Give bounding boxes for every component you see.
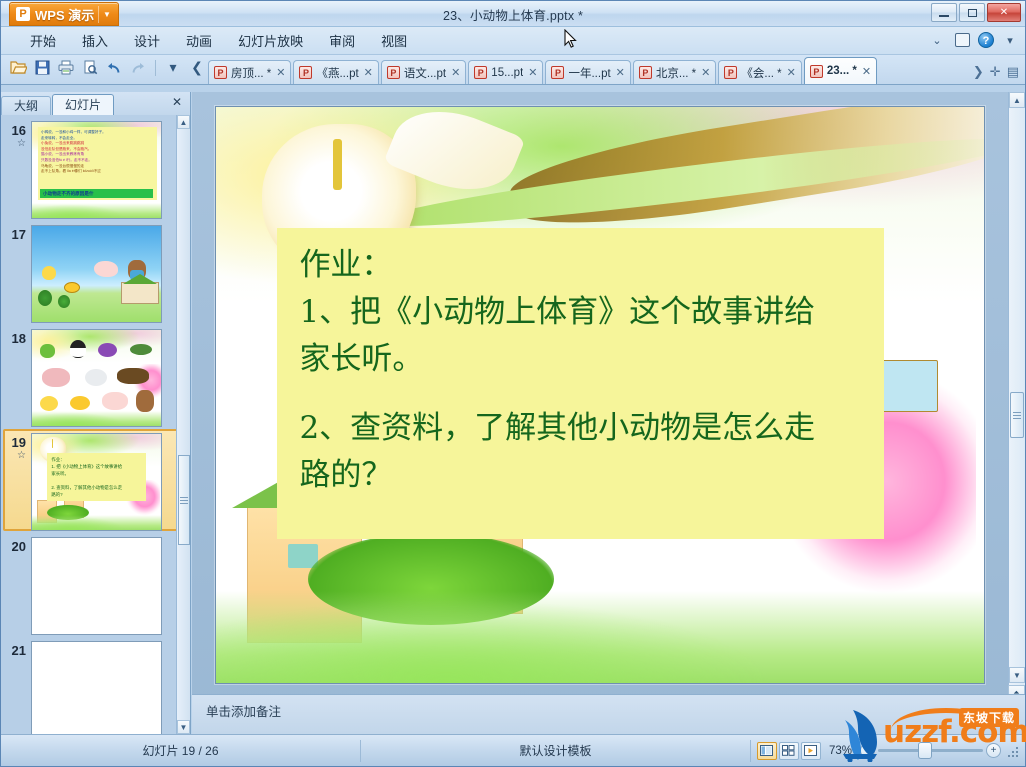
doc-tab-4[interactable]: P 15...pt ✕: [468, 60, 543, 84]
zoom-slider[interactable]: − +: [860, 743, 1001, 758]
thumbnail-number-group: 18: [7, 329, 31, 427]
dropdown-caret-icon[interactable]: ▾: [1001, 31, 1019, 49]
menu-item-start[interactable]: 开始: [17, 28, 69, 53]
menu-item-view[interactable]: 视图: [368, 28, 420, 53]
notes-pane[interactable]: 单击添加备注: [192, 694, 1025, 734]
close-icon: ✕: [1000, 7, 1008, 18]
thumbnail-number: 16: [12, 123, 26, 138]
panel-tabs: 大纲 幻灯片 ✕: [1, 92, 190, 115]
design-template-name: 默认设计模板: [361, 740, 751, 762]
document-tab-strip: ▾ ❮ P 房顶... * ✕ P 《燕...pt ✕ P 语文...pt ✕ …: [1, 55, 1025, 85]
template-shirt-icon[interactable]: [953, 31, 971, 49]
minimize-icon: [939, 15, 949, 17]
open-icon[interactable]: [7, 57, 29, 79]
doc-tab-close-icon[interactable]: ✕: [700, 66, 710, 79]
thumbnail-preview[interactable]: [31, 225, 162, 323]
zoom-out-button[interactable]: −: [860, 743, 875, 758]
restore-button[interactable]: [959, 3, 985, 22]
menu-bar: 开始 插入 设计 动画 幻灯片放映 审阅 视图 ⌄ ? ▾: [1, 27, 1025, 55]
thumbnail-item[interactable]: 21: [1, 635, 190, 734]
minimize-button[interactable]: [931, 3, 957, 22]
doc-tab-label: 语文...pt: [404, 65, 446, 81]
doc-tab-close-icon[interactable]: ✕: [527, 66, 537, 79]
grass-decor: [216, 591, 984, 683]
thumbnail-preview[interactable]: 小鸭说，一没和小鸡一样，可调整好子。 走来转转，不会走全。 小兔说，一没出来跳跳…: [31, 121, 162, 219]
doc-tab-label: 《会... *: [741, 65, 781, 81]
pptx-file-icon: P: [810, 65, 823, 78]
menu-item-slideshow[interactable]: 幻灯片放映: [225, 28, 316, 53]
slide-sorter-view-button[interactable]: [779, 742, 799, 760]
slide-title-line: 作业：: [299, 242, 866, 289]
title-bar: P WPS 演示 ▼ 23、小动物上体育.pptx * ✕: [1, 1, 1025, 27]
panel-close-icon[interactable]: ✕: [172, 95, 182, 109]
slide-editor-pane: 作业： 1、把《小动物上体育》这个故事讲给 家长听。 2、查资料，了解其他小动物…: [192, 92, 1025, 734]
slideshow-view-button[interactable]: [801, 742, 821, 760]
menu-bar-right-icons: ⌄ ? ▾: [928, 31, 1019, 49]
thumbnail-item[interactable]: 16 ☆ 小鸭说，一没和小鸡一样，可调整好子。 走来转转，不会走全。 小兔说，一…: [1, 115, 190, 219]
current-slide[interactable]: 作业： 1、把《小动物上体育》这个故事讲给 家长听。 2、查资料，了解其他小动物…: [215, 106, 985, 684]
thumbnail-list[interactable]: 16 ☆ 小鸭说，一没和小鸡一样，可调整好子。 走来转转，不会走全。 小兔说，一…: [1, 115, 190, 734]
thumbnail-preview[interactable]: [31, 537, 162, 635]
thumbnail-number: 18: [12, 331, 26, 346]
animation-star-icon: ☆: [7, 450, 26, 461]
grip-lines-icon: [180, 495, 188, 506]
doc-tab-close-icon[interactable]: ✕: [861, 65, 871, 78]
menu-item-review[interactable]: 审阅: [316, 28, 368, 53]
scroll-up-icon[interactable]: ▲: [177, 115, 190, 129]
slide-blank-line: [299, 383, 866, 405]
doc-tab-label: 《燕...pt: [316, 65, 358, 81]
work-area: 大纲 幻灯片 ✕ 16 ☆ 小鸭说，一没和小鸡一样，可调整好子。: [1, 92, 1025, 734]
restore-icon: [968, 9, 977, 17]
tab-strip-controls: ❯ ✛ ▤: [969, 64, 1025, 84]
toolbar-divider: [155, 60, 156, 76]
document-tabs: P 房顶... * ✕ P 《燕...pt ✕ P 语文...pt ✕ P 15…: [208, 54, 969, 84]
doc-tab-2[interactable]: P 《燕...pt ✕: [293, 60, 378, 84]
doc-tab-5[interactable]: P 一年...pt ✕: [545, 60, 630, 84]
thumbnail-item[interactable]: 18: [1, 323, 190, 427]
pptx-file-icon: P: [551, 66, 564, 79]
thumbnail-number: 21: [12, 643, 26, 658]
thumbnail-number: 17: [12, 227, 26, 242]
wps-presentation-window: P WPS 演示 ▼ 23、小动物上体育.pptx * ✕ 开始 插入 设计 动…: [0, 0, 1026, 767]
slide-vertical-scrollbar[interactable]: ▲ ▼ ⏶ ⏷: [1008, 92, 1025, 717]
help-icon[interactable]: ?: [978, 32, 994, 48]
menu-item-animation[interactable]: 动画: [173, 28, 225, 53]
pptx-file-icon: P: [299, 66, 312, 79]
doc-tab-label: 北京... *: [656, 65, 696, 81]
slides-panel-scrollbar[interactable]: ▲ ▼: [176, 115, 190, 734]
zoom-in-button[interactable]: +: [986, 743, 1001, 758]
thumbnail-number-group: 16 ☆: [7, 121, 31, 219]
doc-tab-1[interactable]: P 房顶... * ✕: [208, 60, 291, 84]
doc-tab-close-icon[interactable]: ✕: [363, 66, 373, 79]
resize-grip-icon[interactable]: [1005, 744, 1019, 758]
pptx-file-icon: P: [724, 66, 737, 79]
thumbnail-item[interactable]: 20: [1, 531, 190, 635]
doc-tab-close-icon[interactable]: ✕: [275, 66, 285, 79]
scroll-up-icon[interactable]: ▲: [1009, 92, 1025, 108]
scrollbar-thumb[interactable]: [178, 455, 190, 545]
pptx-file-icon: P: [639, 66, 652, 79]
doc-tab-close-icon[interactable]: ✕: [786, 66, 796, 79]
document-title: 23、小动物上体育.pptx *: [1, 5, 1025, 24]
collapse-ribbon-icon[interactable]: ❮: [186, 57, 208, 79]
pptx-file-icon: P: [214, 66, 227, 79]
close-button[interactable]: ✕: [987, 3, 1021, 22]
scroll-down-icon[interactable]: ▼: [1009, 667, 1025, 683]
status-bar: 幻灯片 19 / 26 默认设计模板 73% −: [1, 734, 1025, 766]
doc-tab-3[interactable]: P 语文...pt ✕: [381, 60, 466, 84]
thumbnail-number: 20: [12, 539, 26, 554]
chevron-down-icon[interactable]: ⌄: [928, 31, 946, 49]
doc-tab-6[interactable]: P 北京... * ✕: [633, 60, 716, 84]
status-bar-right: 73% − +: [751, 740, 1025, 762]
scrollbar-thumb[interactable]: [1010, 392, 1024, 438]
tab-slides[interactable]: 幻灯片: [52, 94, 114, 115]
doc-tab-label: 15...pt: [491, 67, 523, 79]
notes-placeholder: 单击添加备注: [206, 705, 281, 719]
redo-icon[interactable]: [127, 57, 149, 79]
print-icon[interactable]: [55, 57, 77, 79]
zoom-track[interactable]: [878, 749, 983, 752]
slide-line-4: 路的？: [299, 452, 866, 499]
pptx-file-icon: P: [387, 66, 400, 79]
print-preview-icon[interactable]: [79, 57, 101, 79]
save-icon[interactable]: [31, 57, 53, 79]
tab-scroll-right-icon[interactable]: ❯: [973, 64, 984, 80]
thumbnail-number-group: 21: [7, 641, 31, 734]
menu-item-design[interactable]: 设计: [121, 28, 173, 53]
slide-line-1: 1、把《小动物上体育》这个故事讲给: [299, 289, 866, 336]
window-controls: ✕: [931, 3, 1021, 22]
zoom-handle[interactable]: [918, 742, 932, 759]
slide-text-box[interactable]: 作业： 1、把《小动物上体育》这个故事讲给 家长听。 2、查资料，了解其他小动物…: [277, 228, 884, 539]
scroll-down-icon[interactable]: ▼: [177, 720, 190, 734]
slides-panel: 大纲 幻灯片 ✕ 16 ☆ 小鸭说，一没和小鸡一样，可调整好子。: [1, 92, 191, 734]
thumbnail-preview[interactable]: [31, 641, 162, 734]
doc-tab-label: 一年...pt: [568, 65, 610, 81]
tab-outline[interactable]: 大纲: [1, 96, 51, 115]
thumbnail-number-group: 17: [7, 225, 31, 323]
zoom-level-label: 73%: [825, 745, 856, 757]
thumbnail-preview[interactable]: [31, 329, 162, 427]
menu-item-insert[interactable]: 插入: [69, 28, 121, 53]
thumbnail-number-group: 19 ☆: [7, 433, 31, 531]
slide-counter: 幻灯片 19 / 26: [1, 740, 361, 762]
tab-list-icon[interactable]: ▤: [1007, 64, 1019, 80]
animation-star-icon: ☆: [7, 138, 26, 149]
grip-lines-icon: [1013, 410, 1021, 421]
doc-tab-8-active[interactable]: P 23... * ✕: [804, 57, 877, 84]
doc-tab-close-icon[interactable]: ✕: [615, 66, 625, 79]
doc-tab-label: 房顶... *: [231, 65, 271, 81]
thumbnail-preview[interactable]: 作业：1. 把《小动物上体育》这个故事讲给家长听。2. 查资料，了解其他小动物是…: [31, 433, 162, 531]
undo-icon[interactable]: [103, 57, 125, 79]
thumbnail-number-group: 20: [7, 537, 31, 635]
pptx-file-icon: P: [474, 66, 487, 79]
quick-access-toolbar: ▾ ❮: [7, 54, 208, 84]
doc-tab-label: 23... *: [827, 65, 857, 77]
thumbnail-item[interactable]: 17: [1, 219, 190, 323]
customize-icon[interactable]: ▾: [162, 57, 184, 79]
slide-line-2: 家长听。: [299, 336, 866, 383]
thumbnail-number: 19: [12, 435, 26, 450]
view-mode-buttons: [757, 742, 821, 760]
slide-line-3: 2、查资料，了解其他小动物是怎么走: [299, 405, 866, 452]
normal-view-button[interactable]: [757, 742, 777, 760]
doc-tab-close-icon[interactable]: ✕: [450, 66, 460, 79]
thumbnail-item-selected[interactable]: 19 ☆: [1, 427, 190, 531]
new-tab-icon[interactable]: ✛: [990, 64, 1001, 80]
doc-tab-7[interactable]: P 《会... * ✕: [718, 60, 801, 84]
